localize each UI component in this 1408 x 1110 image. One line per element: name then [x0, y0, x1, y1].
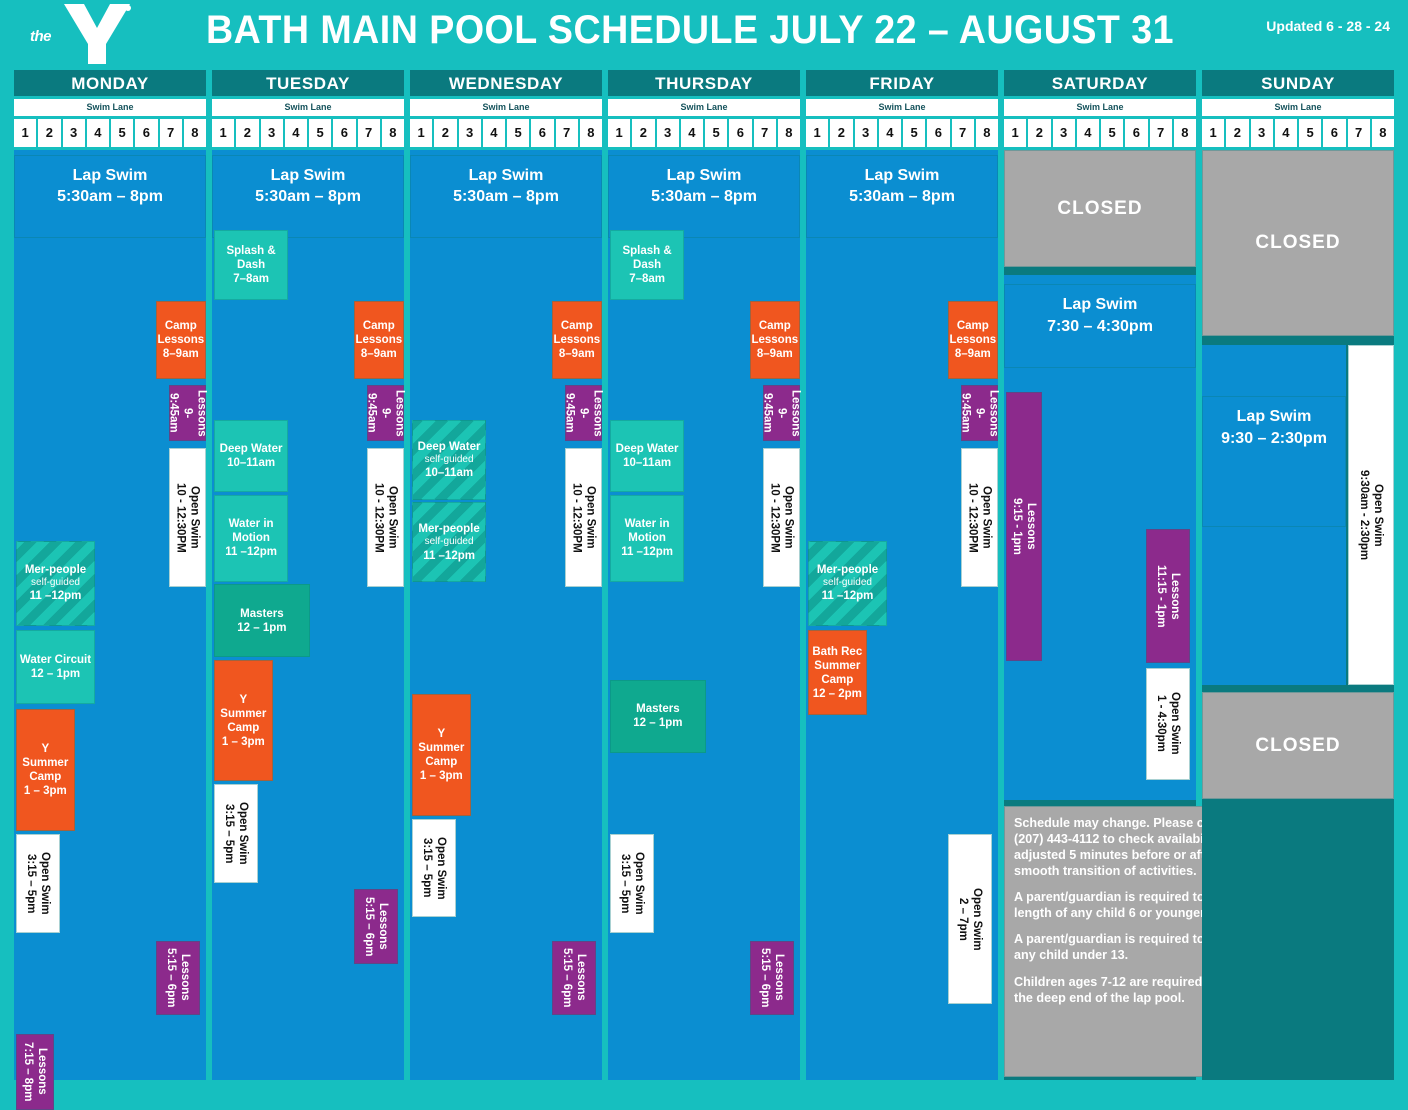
schedule-block-masters[interactable]: Masters12 – 1pm — [214, 584, 310, 657]
block-title: Lessons — [574, 948, 588, 1007]
block-time: 9:15 - 1pm — [1010, 498, 1024, 555]
block-time: 7:15 – 8pm — [21, 1042, 35, 1101]
lane-number-4: 4 — [483, 119, 505, 147]
day-body-friday: Lap Swim5:30am – 8pmCamp Lessons8–9amLes… — [806, 150, 998, 1080]
schedule-block-open-swim[interactable]: Open Swim10 - 12:30PM — [763, 448, 800, 588]
block-time: 12 – 1pm — [20, 667, 91, 681]
schedule-block-lap-swim[interactable]: Lap Swim5:30am – 8pm — [212, 155, 404, 239]
lane-number-7: 7 — [358, 119, 380, 147]
lane-number-1: 1 — [14, 119, 36, 147]
schedule-block-lessons[interactable]: Lessons7:15 – 8pm — [16, 1034, 54, 1110]
lane-number-4: 4 — [681, 119, 703, 147]
block-title: Deep Water — [616, 442, 679, 456]
block-time: 5:15 – 6pm — [362, 897, 376, 956]
schedule-block-deep-water[interactable]: Deep Water10–11am — [610, 420, 684, 493]
block-title: Deep Water — [418, 440, 481, 454]
block-time: 5:15 – 6pm — [758, 948, 772, 1007]
block-title: Open Swim — [970, 888, 984, 951]
block-time: 9:30 – 2:30pm — [1221, 428, 1327, 450]
lane-number-row: 12345678 — [212, 119, 404, 147]
block-title: Lessons — [772, 948, 786, 1007]
lane-number-row: 12345678 — [608, 119, 800, 147]
block-title: Splash & Dash — [217, 244, 285, 272]
lane-number-7: 7 — [952, 119, 974, 147]
schedule-block-open-swim[interactable]: Open Swim3:15 – 5pm — [412, 819, 456, 918]
block-title: Camp Lessons — [751, 319, 798, 347]
block-title: Camp Lessons — [949, 319, 996, 347]
schedule-block-lessons[interactable]: Lessons11:15 - 1pm — [1146, 529, 1190, 664]
schedule-block-mer-people[interactable]: Mer-peopleself-guided11 –12pm — [412, 502, 486, 582]
block-time: 8–9am — [553, 347, 600, 361]
lane-number-row: 12345678 — [1202, 119, 1394, 147]
block-time: 7–8am — [217, 272, 285, 286]
day-column-thursday: THURSDAYSwim Lane12345678Lap Swim5:30am … — [608, 70, 800, 1080]
schedule-block-y-summer-camp[interactable]: Y Summer Camp1 – 3pm — [412, 694, 471, 816]
block-title: Water in Motion — [217, 517, 285, 545]
schedule-block-lap-swim[interactable]: Lap Swim7:30 – 4:30pm — [1004, 284, 1196, 368]
block-title: Y Summer Camp — [217, 693, 270, 735]
schedule-block-deep-water[interactable]: Deep Waterself-guided10–11am — [412, 420, 486, 500]
page-header: the BATH MAIN POOL SCHEDULE JULY 22 – AU… — [0, 0, 1408, 70]
schedule-block-lap-swim[interactable]: Lap Swim5:30am – 8pm — [14, 155, 206, 239]
lane-number-7: 7 — [160, 119, 182, 147]
block-title: Bath Rec Summer Camp — [811, 645, 864, 687]
block-time: 2 – 7pm — [956, 888, 970, 951]
block-title: Open Swim — [632, 852, 646, 915]
ymca-logo: the — [28, 2, 138, 66]
schedule-block-y-summer-camp[interactable]: Y Summer Camp1 – 3pm — [16, 709, 75, 831]
lane-number-5: 5 — [1101, 119, 1123, 147]
lane-number-3: 3 — [657, 119, 679, 147]
lane-number-5: 5 — [507, 119, 529, 147]
block-time: 8–9am — [949, 347, 996, 361]
day-body-saturday: CLOSEDLap Swim7:30 – 4:30pmLessons9:15 -… — [1004, 150, 1196, 1080]
block-title: Open Swim — [1168, 692, 1182, 755]
block-title: CLOSED — [1255, 734, 1340, 757]
block-title: Water in Motion — [613, 517, 681, 545]
lane-number-3: 3 — [459, 119, 481, 147]
block-time: 1 - 4:30pm — [1154, 692, 1168, 755]
block-time: 11:15 - 1pm — [1154, 565, 1168, 628]
schedule-block-open-swim[interactable]: Open Swim10 - 12:30PM — [367, 448, 404, 588]
day-header-saturday: SATURDAY — [1004, 70, 1196, 96]
schedule-block-water-in-motion[interactable]: Water in Motion11 –12pm — [610, 495, 684, 581]
schedule-block-splash-dash[interactable]: Splash & Dash7–8am — [214, 230, 288, 300]
lane-number-4: 4 — [879, 119, 901, 147]
lane-number-2: 2 — [434, 119, 456, 147]
schedule-block-lap-swim[interactable]: Lap Swim5:30am – 8pm — [806, 155, 998, 239]
day-header-friday: FRIDAY — [806, 70, 998, 96]
block-title: Mer-people — [418, 522, 479, 536]
y-letter-icon — [60, 2, 134, 66]
day-column-wednesday: WEDNESDAYSwim Lane12345678Lap Swim5:30am… — [410, 70, 602, 1080]
block-time: 10 - 12:30PM — [371, 483, 385, 553]
lane-number-6: 6 — [333, 119, 355, 147]
lane-number-5: 5 — [705, 119, 727, 147]
schedule-block-water-circuit[interactable]: Water Circuit12 – 1pm — [16, 630, 95, 704]
day-body-monday: Lap Swim5:30am – 8pmCamp Lessons8–9amLes… — [14, 150, 206, 1080]
block-title: Y Summer Camp — [415, 727, 468, 769]
block-title: Open Swim — [236, 802, 250, 865]
block-time: 10 - 12:30PM — [569, 483, 583, 553]
lane-number-row: 12345678 — [1004, 119, 1196, 147]
swim-lane-label: Swim Lane — [1202, 99, 1394, 116]
block-title: Masters — [633, 702, 682, 716]
block-title: Open Swim — [979, 483, 993, 553]
lane-number-1: 1 — [1004, 119, 1026, 147]
schedule-block-lessons[interactable]: Lessons9-9:45am — [763, 385, 800, 441]
block-title: Lap Swim — [1221, 406, 1327, 428]
lane-number-1: 1 — [410, 119, 432, 147]
block-title: Lap Swim — [57, 165, 163, 187]
lane-number-2: 2 — [1028, 119, 1050, 147]
lane-number-5: 5 — [903, 119, 925, 147]
day-body-tuesday: Lap Swim5:30am – 8pmSplash & Dash7–8amCa… — [212, 150, 404, 1080]
updated-date: Updated 6 - 28 - 24 — [1266, 18, 1390, 34]
schedule-block-camp-lessons[interactable]: Camp Lessons8–9am — [156, 301, 206, 379]
block-title: Open Swim — [434, 837, 448, 900]
block-time: 10–11am — [220, 456, 283, 470]
page-title: BATH MAIN POOL SCHEDULE JULY 22 – AUGUST… — [182, 8, 1197, 53]
schedule-block-camp-lessons[interactable]: Camp Lessons8–9am — [750, 301, 800, 379]
lane-number-4: 4 — [285, 119, 307, 147]
schedule-block-splash-dash[interactable]: Splash & Dash7–8am — [610, 230, 684, 300]
lane-number-6: 6 — [927, 119, 949, 147]
lane-number-3: 3 — [63, 119, 85, 147]
schedule-block-camp-lessons[interactable]: Camp Lessons8–9am — [354, 301, 404, 379]
schedule-block-open-swim[interactable]: Open Swim1 - 4:30pm — [1146, 668, 1190, 780]
lane-number-row: 12345678 — [410, 119, 602, 147]
block-title: Lap Swim — [255, 165, 361, 187]
block-title: Camp Lessons — [157, 319, 204, 347]
lane-number-1: 1 — [608, 119, 630, 147]
block-title: Deep Water — [220, 442, 283, 456]
lane-number-8: 8 — [382, 119, 404, 147]
block-time: 5:30am – 8pm — [57, 186, 163, 208]
block-time: 9-9:45am — [958, 388, 986, 438]
block-title: Lap Swim — [453, 165, 559, 187]
schedule-block-mer-people[interactable]: Mer-peopleself-guided11 –12pm — [16, 541, 95, 627]
schedule-block-lap-swim[interactable]: Lap Swim9:30 – 2:30pm — [1202, 396, 1346, 526]
lane-number-row: 12345678 — [14, 119, 206, 147]
schedule-block-open-swim[interactable]: Open Swim10 - 12:30PM — [169, 448, 206, 588]
block-time: 3:15 – 5pm — [618, 852, 632, 915]
lane-number-4: 4 — [1077, 119, 1099, 147]
schedule-block-deep-water[interactable]: Deep Water10–11am — [214, 420, 288, 493]
block-time: 11 –12pm — [25, 589, 86, 603]
block-time: 5:15 – 6pm — [560, 948, 574, 1007]
lane-number-8: 8 — [976, 119, 998, 147]
schedule-block-open-swim[interactable]: Open Swim10 - 12:30PM — [565, 448, 602, 588]
lane-number-6: 6 — [729, 119, 751, 147]
block-title: Lessons — [788, 388, 802, 438]
block-title: Lessons — [178, 948, 192, 1007]
day-header-sunday: SUNDAY — [1202, 70, 1394, 96]
block-time: 10 - 12:30PM — [965, 483, 979, 553]
block-time: 3:15 – 5pm — [24, 852, 38, 915]
day-header-tuesday: TUESDAY — [212, 70, 404, 96]
swim-lane-label: Swim Lane — [212, 99, 404, 116]
schedule-block-mer-people[interactable]: Mer-peopleself-guided11 –12pm — [808, 541, 887, 627]
block-time: 12 – 1pm — [633, 716, 682, 730]
block-time: 9:30am - 2:30pm — [1357, 470, 1371, 560]
block-title: Y Summer Camp — [19, 742, 72, 784]
block-time: 10–11am — [616, 456, 679, 470]
day-header-monday: MONDAY — [14, 70, 206, 96]
block-time: 11 –12pm — [613, 545, 681, 559]
schedule-block-open-swim[interactable]: Open Swim9:30am - 2:30pm — [1348, 345, 1394, 684]
block-title: Lessons — [376, 897, 390, 956]
block-title: Lessons — [35, 1042, 49, 1101]
schedule-block-closed[interactable]: CLOSED — [1004, 150, 1196, 267]
block-time: 10 - 12:30PM — [767, 483, 781, 553]
lane-number-4: 4 — [1275, 119, 1297, 147]
schedule-block-open-swim[interactable]: Open Swim3:15 – 5pm — [610, 834, 654, 933]
lane-number-row: 12345678 — [806, 119, 998, 147]
schedule-block-lessons[interactable]: Lessons5:15 – 6pm — [354, 889, 398, 963]
schedule-block-lessons[interactable]: Lessons9-9:45am — [961, 385, 998, 441]
block-time: 3:15 – 5pm — [222, 802, 236, 865]
day-body-thursday: Lap Swim5:30am – 8pmSplash & Dash7–8amCa… — [608, 150, 800, 1080]
schedule-block-lap-swim[interactable]: Lap Swim5:30am – 8pm — [608, 155, 800, 239]
schedule-block-lessons[interactable]: Lessons5:15 – 6pm — [156, 941, 200, 1015]
lane-number-4: 4 — [87, 119, 109, 147]
block-title: Open Swim — [1371, 470, 1385, 560]
day-body-sunday: CLOSEDLap Swim9:30 – 2:30pmOpen Swim9:30… — [1202, 150, 1394, 1080]
block-time: 5:30am – 8pm — [453, 186, 559, 208]
block-title: Lessons — [986, 388, 1000, 438]
block-time: 10–11am — [418, 466, 481, 480]
schedule-block-open-swim[interactable]: Open Swim3:15 – 5pm — [16, 834, 60, 933]
block-time: 8–9am — [355, 347, 402, 361]
schedule-block-lap-swim[interactable]: Lap Swim5:30am – 8pm — [410, 155, 602, 239]
block-title: CLOSED — [1255, 231, 1340, 254]
block-title: Water Circuit — [20, 653, 91, 667]
block-time: 5:30am – 8pm — [651, 186, 757, 208]
schedule-block-lessons[interactable]: Lessons9-9:45am — [367, 385, 404, 441]
lane-number-3: 3 — [855, 119, 877, 147]
day-column-friday: FRIDAYSwim Lane12345678Lap Swim5:30am – … — [806, 70, 998, 1080]
lane-number-2: 2 — [830, 119, 852, 147]
schedule-block-camp-lessons[interactable]: Camp Lessons8–9am — [552, 301, 602, 379]
block-title: CLOSED — [1057, 197, 1142, 220]
lane-number-5: 5 — [1299, 119, 1321, 147]
schedule-block-lessons[interactable]: Lessons5:15 – 6pm — [750, 941, 794, 1015]
lane-number-8: 8 — [184, 119, 206, 147]
lane-number-2: 2 — [236, 119, 258, 147]
schedule-block-closed[interactable]: CLOSED — [1202, 692, 1394, 799]
day-body-wednesday: Lap Swim5:30am – 8pmCamp Lessons8–9amLes… — [410, 150, 602, 1080]
block-time: 8–9am — [157, 347, 204, 361]
schedule-block-closed[interactable]: CLOSED — [1202, 150, 1394, 336]
lane-number-1: 1 — [212, 119, 234, 147]
swim-lane-label: Swim Lane — [806, 99, 998, 116]
day-column-monday: MONDAYSwim Lane12345678Lap Swim5:30am – … — [14, 70, 206, 1080]
lane-number-8: 8 — [1372, 119, 1394, 147]
block-title: Lessons — [392, 388, 406, 438]
block-time: 12 – 1pm — [237, 621, 286, 635]
block-time: 9-9:45am — [760, 388, 788, 438]
block-time: 1 – 3pm — [217, 735, 270, 749]
block-subtitle: self-guided — [25, 577, 86, 589]
block-subtitle: self-guided — [817, 577, 878, 589]
lane-number-6: 6 — [1323, 119, 1345, 147]
day-header-wednesday: WEDNESDAY — [410, 70, 602, 96]
block-time: 11 –12pm — [418, 549, 479, 563]
lane-number-7: 7 — [1348, 119, 1370, 147]
lane-number-8: 8 — [580, 119, 602, 147]
swim-lane-label: Swim Lane — [410, 99, 602, 116]
block-title: Open Swim — [781, 483, 795, 553]
block-time: 7–8am — [613, 272, 681, 286]
lane-number-8: 8 — [1174, 119, 1196, 147]
lane-number-2: 2 — [632, 119, 654, 147]
block-title: Camp Lessons — [553, 319, 600, 347]
block-time: 8–9am — [751, 347, 798, 361]
block-time: 5:30am – 8pm — [849, 186, 955, 208]
block-title: Open Swim — [187, 483, 201, 553]
block-time: 12 – 2pm — [811, 687, 864, 701]
lane-number-5: 5 — [309, 119, 331, 147]
lane-number-7: 7 — [1150, 119, 1172, 147]
schedule-block-lessons[interactable]: Lessons9-9:45am — [169, 385, 206, 441]
day-column-tuesday: TUESDAYSwim Lane12345678Lap Swim5:30am –… — [212, 70, 404, 1080]
schedule-block-lessons[interactable]: Lessons9-9:45am — [565, 385, 602, 441]
block-time: 10 - 12:30PM — [173, 483, 187, 553]
block-title: Mer-people — [817, 563, 878, 577]
block-subtitle: self-guided — [418, 536, 479, 548]
lane-number-2: 2 — [1226, 119, 1248, 147]
lane-number-7: 7 — [754, 119, 776, 147]
block-time: 5:30am – 8pm — [255, 186, 361, 208]
block-title: Lap Swim — [1047, 294, 1153, 316]
block-time: 3:15 – 5pm — [420, 837, 434, 900]
day-column-saturday: SATURDAYSwim Lane12345678CLOSEDLap Swim7… — [1004, 70, 1196, 1080]
block-title: Masters — [237, 607, 286, 621]
swim-lane-label: Swim Lane — [1004, 99, 1196, 116]
schedule-block-open-swim[interactable]: Open Swim10 - 12:30PM — [961, 448, 998, 588]
schedule-block-water-in-motion[interactable]: Water in Motion11 –12pm — [214, 495, 288, 581]
block-time: 11 –12pm — [817, 589, 878, 603]
block-time: 9-9:45am — [166, 388, 194, 438]
day-header-thursday: THURSDAY — [608, 70, 800, 96]
block-title: Lessons — [1168, 565, 1182, 628]
schedule-block-y-summer-camp[interactable]: Y Summer Camp1 – 3pm — [214, 660, 273, 782]
schedule-block-masters[interactable]: Masters12 – 1pm — [610, 680, 706, 753]
lane-number-6: 6 — [531, 119, 553, 147]
lane-number-3: 3 — [261, 119, 283, 147]
block-title: Lessons — [1024, 498, 1038, 555]
block-title: Open Swim — [583, 483, 597, 553]
schedule-block-open-swim[interactable]: Open Swim3:15 – 5pm — [214, 784, 258, 883]
lane-number-6: 6 — [135, 119, 157, 147]
schedule-block-camp-lessons[interactable]: Camp Lessons8–9am — [948, 301, 998, 379]
block-title: Splash & Dash — [613, 244, 681, 272]
schedule-grid: MONDAYSwim Lane12345678Lap Swim5:30am – … — [14, 70, 1394, 1080]
block-time: 9-9:45am — [364, 388, 392, 438]
block-time: 9-9:45am — [562, 388, 590, 438]
logo-the-text: the — [30, 28, 51, 45]
lane-number-3: 3 — [1251, 119, 1273, 147]
block-time: 7:30 – 4:30pm — [1047, 316, 1153, 338]
block-title: Open Swim — [385, 483, 399, 553]
block-title: Lap Swim — [849, 165, 955, 187]
schedule-block-bath-rec-summer-camp[interactable]: Bath Rec Summer Camp12 – 2pm — [808, 630, 867, 716]
schedule-block-lessons[interactable]: Lessons9:15 - 1pm — [1006, 392, 1042, 662]
block-title: Lessons — [194, 388, 208, 438]
lane-number-8: 8 — [778, 119, 800, 147]
lane-number-1: 1 — [1202, 119, 1224, 147]
block-time: 11 –12pm — [217, 545, 285, 559]
lane-number-2: 2 — [38, 119, 60, 147]
block-subtitle: self-guided — [418, 454, 481, 466]
block-title: Lessons — [590, 388, 604, 438]
swim-lane-label: Swim Lane — [14, 99, 206, 116]
block-title: Open Swim — [38, 852, 52, 915]
block-time: 1 – 3pm — [415, 769, 468, 783]
schedule-block-open-swim[interactable]: Open Swim2 – 7pm — [948, 834, 992, 1003]
lane-number-3: 3 — [1053, 119, 1075, 147]
block-title: Lap Swim — [651, 165, 757, 187]
lane-number-1: 1 — [806, 119, 828, 147]
swim-lane-label: Swim Lane — [608, 99, 800, 116]
day-column-sunday: SUNDAYSwim Lane12345678CLOSEDLap Swim9:3… — [1202, 70, 1394, 1080]
block-time: 5:15 – 6pm — [164, 948, 178, 1007]
lane-number-7: 7 — [556, 119, 578, 147]
lane-number-5: 5 — [111, 119, 133, 147]
schedule-block-lessons[interactable]: Lessons5:15 – 6pm — [552, 941, 596, 1015]
block-time: 1 – 3pm — [19, 784, 72, 798]
block-title: Mer-people — [25, 563, 86, 577]
lane-number-6: 6 — [1125, 119, 1147, 147]
block-title: Camp Lessons — [355, 319, 402, 347]
